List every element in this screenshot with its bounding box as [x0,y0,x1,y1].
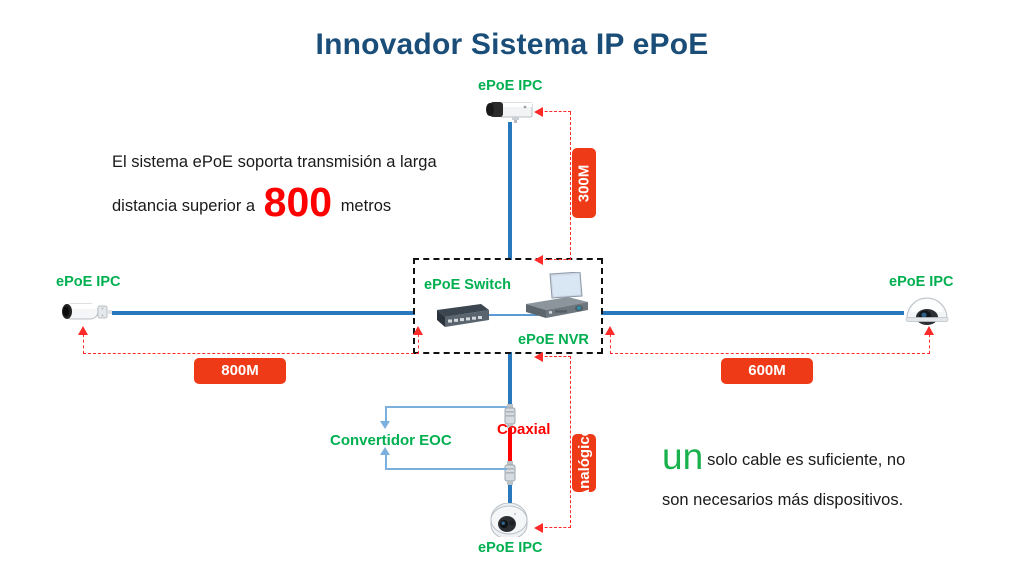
closing-line-2: son necesarios más dispositivos. [662,480,905,520]
measure-bottom-lower-h [540,527,571,528]
diagram-canvas: Innovador Sistema IP ePoE El sistema ePo… [0,0,1024,575]
eoc-callout-line-top-v [385,406,387,422]
intro-text-block: El sistema ePoE soporta transmisión a la… [112,140,437,228]
measure-top-lower-h [540,259,571,260]
measure-bottom-vertical [570,356,571,528]
measure-left-end-v [83,334,84,354]
measure-top-upper-h [540,111,571,112]
eoc-callout-line-top-h [385,406,507,408]
measure-top-vertical [570,112,571,260]
closing-line-1: solo cable es suficiente, no [707,451,905,469]
intro-line-1: El sistema ePoE soporta transmisión a la… [112,153,437,171]
eoc-callout-arrow-down [380,421,390,429]
eoc-callout-line-bottom-h [385,468,507,470]
measure-right-end-v [929,334,930,354]
badge-distance-left: 800M [194,358,286,384]
cable-bottom-vertical-upper [508,352,512,404]
cable-right-horizontal [601,311,904,315]
measure-bottom-arrow-lower [534,523,543,533]
bottom-camera-label: ePoE IPC [478,540,542,556]
measure-bottom-upper-h [540,356,571,357]
measure-left-arrow-start [78,326,88,335]
nvr-recorder-icon [524,272,590,327]
right-camera-label: ePoE IPC [889,274,953,290]
badge-distance-right: 600M [721,358,813,384]
cable-top-vertical [508,122,512,260]
closing-highlight-word: un [662,436,707,477]
measure-right-box-v [610,334,611,354]
box-camera-icon [484,98,536,129]
left-camera-label: ePoE IPC [56,274,120,290]
eoc-callout-arrow-up [380,447,390,455]
measure-right-arrow-start [605,326,615,335]
measure-right-horizontal [610,353,930,354]
distance-highlight-number: 800 [260,179,336,225]
turret-camera-icon [487,503,531,542]
measure-top-arrow-upper [534,107,543,117]
top-camera-label: ePoE IPC [478,78,542,94]
eoc-converter-icon-2 [503,461,517,490]
coaxial-cable-label: Coaxial [497,421,550,438]
measure-left-box-v [418,334,419,354]
network-switch-icon [431,300,489,335]
measure-left-horizontal [83,353,419,354]
closing-text-block: unsolo cable es suficiente, no son neces… [662,440,905,520]
badge-distance-top: 300M [572,148,596,218]
badge-distance-bottom: Analógico [572,434,596,492]
measure-top-arrow-lower [534,255,543,265]
eoc-converter-label: Convertidor EOC [330,432,452,449]
eoc-callout-line-bottom-v [385,454,387,469]
intro-line-2-suffix: metros [341,197,391,215]
page-title: Innovador Sistema IP ePoE [0,28,1024,62]
intro-line-2-prefix: distancia superior a [112,197,255,215]
switch-label: ePoE Switch [424,277,511,293]
measure-bottom-arrow-upper [534,352,543,362]
measure-left-arrow-end [413,326,423,335]
measure-right-arrow-end [924,326,934,335]
nvr-label: ePoE NVR [518,332,589,348]
cable-left-horizontal [112,311,415,315]
